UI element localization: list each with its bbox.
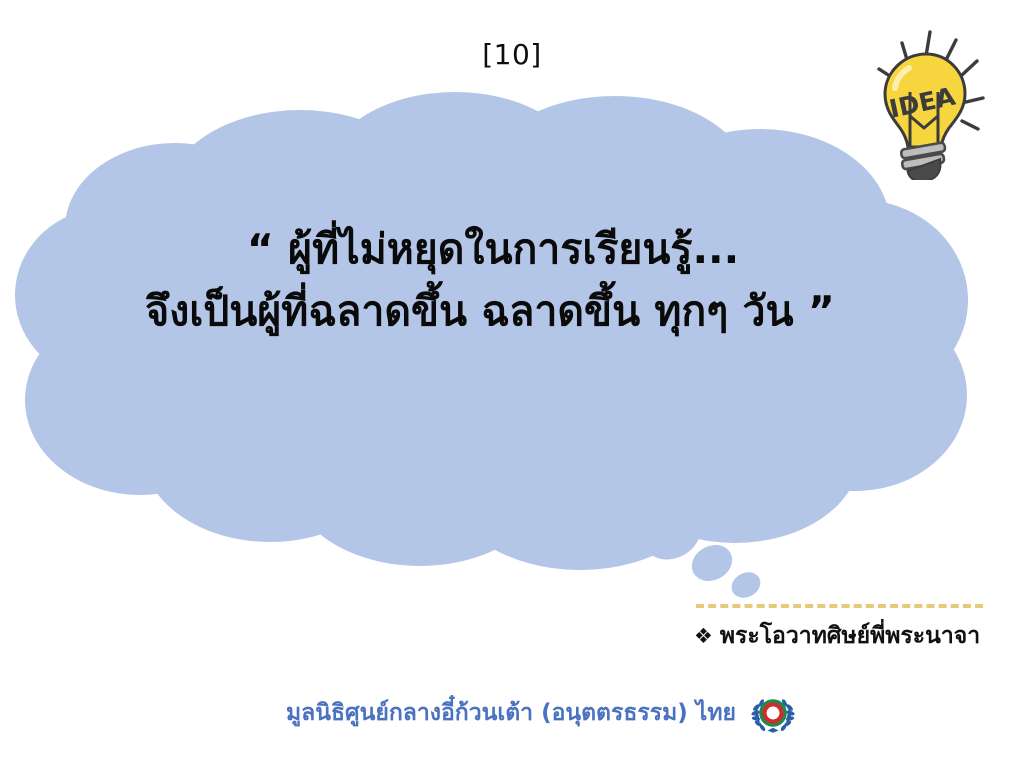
quote-line-2: จึงเป็นผู้ที่ฉลาดขึ้น ฉลาดขึ้น ทุกๆ วัน … — [40, 280, 940, 342]
wreath-tie — [767, 728, 778, 733]
lightbulb-base — [901, 142, 946, 180]
attribution-text: ❖พระโอวาทศิษย์พี่พระนาจา — [694, 622, 994, 651]
organization-name: มูลนิธิศูนย์กลางอี๋ก้วนเต้า (อนุตตรธรรม)… — [286, 695, 736, 731]
attribution-label: พระโอวาทศิษย์พี่พระนาจา — [720, 623, 980, 649]
quote-line-1: “ ผู้ที่ไม่หยุดในการเรียนรู้... — [40, 218, 940, 280]
cloud-lobe — [610, 367, 860, 543]
logo-center — [767, 707, 780, 720]
footer: มูลนิธิศูนย์กลางอี๋ก้วนเต้า (อนุตตรธรรม)… — [286, 690, 796, 736]
quote-block: “ ผู้ที่ไม่หยุดในการเรียนรู้... จึงเป็นผ… — [40, 218, 940, 343]
thought-bubble-medium — [685, 538, 738, 588]
thought-bubble-small — [727, 567, 765, 602]
attribution-block: ❖พระโอวาทศิษย์พี่พระนาจา — [694, 604, 994, 651]
lightbulb-idea-icon: IDEA — [838, 16, 1004, 180]
wreath-ring-logo-icon — [750, 690, 796, 736]
cloud-lobe — [142, 358, 398, 542]
cloud-lobe — [290, 390, 550, 566]
cloud-lobe — [445, 390, 715, 570]
slide-canvas: [10] “ ผู้ที่ไม่หยุดในการเรียนรู้... จึง… — [0, 0, 1024, 768]
thought-bubble-large — [634, 499, 710, 570]
dashed-divider — [696, 604, 983, 608]
diamond-bullet-icon: ❖ — [694, 624, 713, 648]
